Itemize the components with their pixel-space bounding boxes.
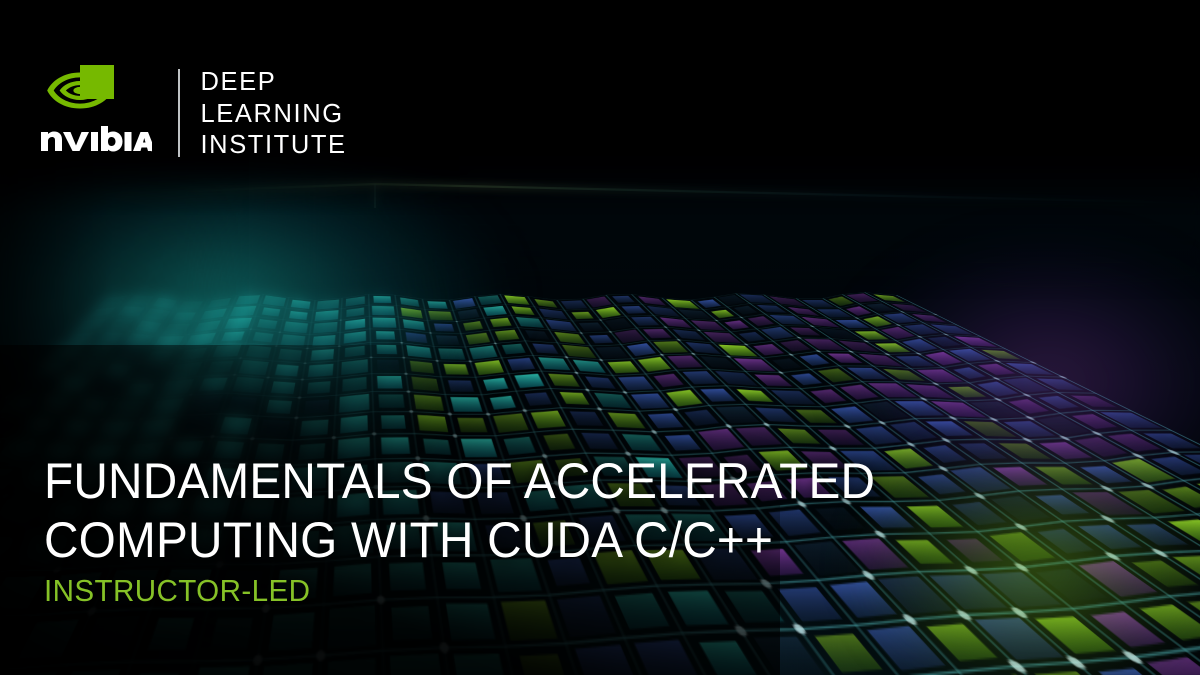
course-title-line-2: COMPUTING WITH CUDA C/C++ <box>44 511 875 570</box>
course-title-line-1: FUNDAMENTALS OF ACCELERATED <box>44 452 875 511</box>
nvidia-wordmark-icon <box>40 125 152 152</box>
course-banner: DEEP LEARNING INSTITUTE FUNDAMENTALS OF … <box>0 0 1200 675</box>
dli-line-2: LEARNING <box>201 99 347 131</box>
nvidia-eye-icon <box>44 63 116 121</box>
course-delivery-format: INSTRUCTOR-LED <box>44 572 875 610</box>
dli-program-name: DEEP LEARNING INSTITUTE <box>201 67 347 162</box>
course-title-block: FUNDAMENTALS OF ACCELERATED COMPUTING WI… <box>44 452 914 610</box>
logo-divider <box>178 69 180 157</box>
nvidia-dli-logo-lockup[interactable]: DEEP LEARNING INSTITUTE <box>40 63 347 162</box>
dli-line-1: DEEP <box>201 67 347 99</box>
dli-line-3: INSTITUTE <box>201 130 347 162</box>
nvidia-logo[interactable] <box>40 63 152 152</box>
